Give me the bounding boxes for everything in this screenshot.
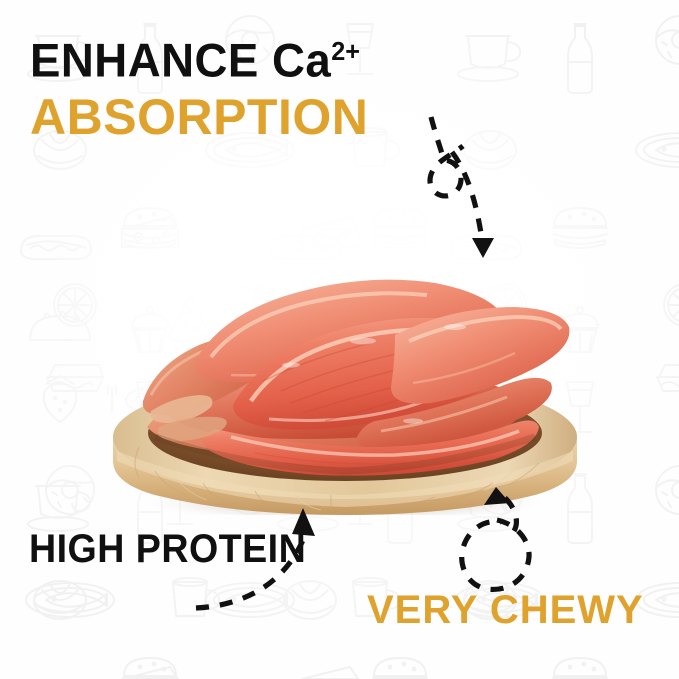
headline-block: ENHANCE Ca2+ ABSORPTION	[30, 26, 460, 145]
charge-superscript: 2+	[331, 36, 360, 66]
arrow-to-texture-loop	[462, 520, 529, 589]
callout-high-protein: HIGH PROTEIN	[29, 527, 306, 572]
headline-line-1-text: ENHANCE Ca	[30, 34, 331, 87]
product-feature-graphic: ENHANCE Ca2+ ABSORPTION HIGH PROTEIN VER…	[0, 0, 679, 679]
headline-line-1: ENHANCE Ca2+	[30, 26, 447, 86]
callout-very-chewy: VERY CHEWY	[367, 588, 644, 633]
headline-line-2: ABSORPTION	[30, 89, 460, 145]
chicken-jerky-on-wooden-plate	[95, 215, 595, 515]
